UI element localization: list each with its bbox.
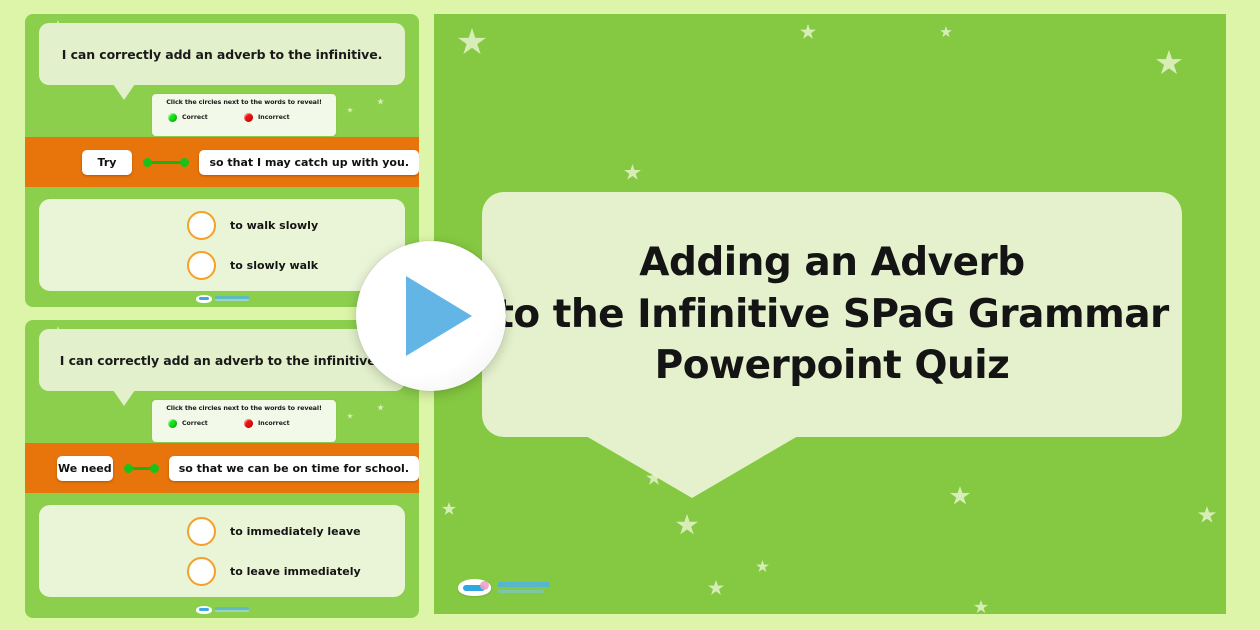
legend-item-incorrect: Incorrect bbox=[244, 113, 320, 122]
star-decoration bbox=[347, 413, 353, 419]
answer-circle-icon[interactable] bbox=[187, 211, 216, 240]
sentence-right-clause: so that I may catch up with you. bbox=[199, 150, 419, 175]
play-button[interactable] bbox=[356, 241, 506, 391]
answer-circle-icon[interactable] bbox=[187, 557, 216, 586]
answer-panel: to walk slowly to slowly walk bbox=[39, 199, 405, 291]
title-bubble: Adding an Adverb to the Infinitive SPaG … bbox=[482, 192, 1182, 437]
answer-label: to walk slowly bbox=[230, 219, 318, 232]
answer-circle-icon[interactable] bbox=[187, 517, 216, 546]
star-decoration bbox=[1156, 50, 1182, 76]
speech-bubble-tail bbox=[113, 84, 135, 100]
legend-item-incorrect: Incorrect bbox=[244, 419, 320, 428]
learning-objective-text: I can correctly add an adverb to the inf… bbox=[60, 353, 380, 368]
legend-label-incorrect: Incorrect bbox=[258, 420, 290, 427]
twinkl-url-text bbox=[215, 296, 249, 301]
star-decoration bbox=[756, 560, 769, 573]
star-decoration bbox=[676, 514, 698, 536]
answer-option[interactable]: to leave immediately bbox=[187, 557, 361, 586]
page-title: Adding an Adverb to the Infinitive SPaG … bbox=[495, 237, 1169, 393]
title-line-3: Powerpoint Quiz bbox=[495, 340, 1169, 392]
answer-option[interactable]: to slowly walk bbox=[187, 251, 318, 280]
twinkl-url-text bbox=[498, 582, 550, 587]
correct-dot-icon bbox=[168, 419, 177, 428]
answer-label: to slowly walk bbox=[230, 259, 318, 272]
star-decoration bbox=[458, 28, 486, 56]
speech-bubble-tail bbox=[113, 390, 135, 406]
correct-dot-icon bbox=[168, 113, 177, 122]
learning-objective-bubble: I can correctly add an adverb to the inf… bbox=[39, 329, 405, 391]
legend-item-correct: Correct bbox=[168, 113, 244, 122]
legend-label-correct: Correct bbox=[182, 420, 208, 427]
answer-panel: to immediately leave to leave immediatel… bbox=[39, 505, 405, 597]
legend-title: Click the circles next to the words to r… bbox=[158, 404, 330, 412]
star-decoration bbox=[800, 24, 816, 40]
answer-circle-icon[interactable] bbox=[187, 251, 216, 280]
legend-box: Click the circles next to the words to r… bbox=[151, 93, 337, 137]
slide-thumbnail-2[interactable]: I can correctly add an adverb to the inf… bbox=[25, 320, 419, 618]
sentence-right-clause: so that we can be on time for school. bbox=[169, 456, 419, 481]
star-decoration bbox=[377, 404, 384, 411]
learning-objective-bubble: I can correctly add an adverb to the inf… bbox=[39, 23, 405, 85]
twinkl-url-text bbox=[215, 607, 249, 612]
play-triangle-icon bbox=[406, 276, 472, 356]
answer-label: to immediately leave bbox=[230, 525, 361, 538]
title-line-1: Adding an Adverb bbox=[495, 237, 1169, 289]
answer-option[interactable]: to immediately leave bbox=[187, 517, 361, 546]
star-decoration bbox=[1198, 506, 1216, 524]
answer-option[interactable]: to walk slowly bbox=[187, 211, 318, 240]
star-decoration bbox=[347, 107, 353, 113]
slide-thumbnail-1[interactable]: I can correctly add an adverb to the inf… bbox=[25, 14, 419, 307]
twinkl-logo-icon bbox=[196, 606, 212, 614]
answer-label: to leave immediately bbox=[230, 565, 361, 578]
sentence-left-word: Try bbox=[82, 150, 132, 175]
slide-footer bbox=[458, 579, 550, 596]
legend-label-correct: Correct bbox=[182, 114, 208, 121]
connector-line-icon bbox=[124, 464, 159, 473]
star-decoration bbox=[708, 580, 724, 596]
legend-title: Click the circles next to the words to r… bbox=[158, 98, 330, 106]
twinkl-logo-icon bbox=[196, 295, 212, 303]
title-line-2: to the Infinitive SPaG Grammar bbox=[495, 289, 1169, 341]
twinkl-logo-icon bbox=[458, 579, 491, 596]
star-decoration bbox=[442, 502, 456, 516]
star-decoration bbox=[624, 164, 641, 181]
star-decoration bbox=[950, 486, 970, 506]
legend-label-incorrect: Incorrect bbox=[258, 114, 290, 121]
incorrect-dot-icon bbox=[244, 419, 253, 428]
sentence-band: We need so that we can be on time for sc… bbox=[25, 443, 419, 493]
star-decoration bbox=[377, 98, 384, 105]
learning-objective-text: I can correctly add an adverb to the inf… bbox=[62, 47, 382, 62]
main-slide[interactable]: Adding an Adverb to the Infinitive SPaG … bbox=[434, 14, 1226, 614]
twinkl-url-block bbox=[498, 582, 550, 594]
star-decoration bbox=[974, 600, 988, 614]
star-decoration bbox=[940, 26, 952, 38]
legend-box: Click the circles next to the words to r… bbox=[151, 399, 337, 443]
sentence-left-word: We need bbox=[57, 456, 113, 481]
twinkl-tagline-text bbox=[498, 590, 544, 594]
connector-line-icon bbox=[143, 158, 189, 167]
thumbnail-footer bbox=[25, 604, 419, 615]
title-bubble-tail bbox=[586, 436, 798, 498]
legend-item-correct: Correct bbox=[168, 419, 244, 428]
sentence-band: Try so that I may catch up with you. bbox=[25, 137, 419, 187]
incorrect-dot-icon bbox=[244, 113, 253, 122]
